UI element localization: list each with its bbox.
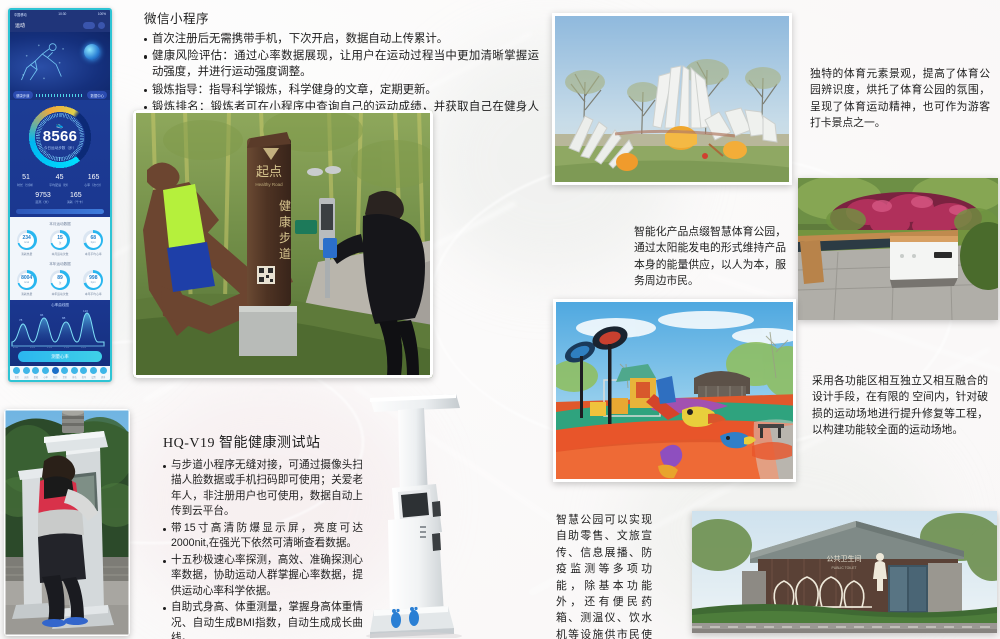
stat-value: 9753 — [35, 192, 51, 199]
playground-photo-art — [556, 302, 796, 482]
svg-text:康: 康 — [279, 214, 291, 229]
ring-stat: 998bpm 本年平均心率 — [83, 270, 103, 296]
stat-label: 距离（米） — [35, 200, 51, 204]
stat-label: 心率（次/分） — [84, 183, 103, 187]
stat-value: 51 — [17, 174, 35, 181]
svg-text:16:0: 16:0 — [81, 346, 87, 348]
tabbar-item[interactable]: 我的 — [52, 367, 59, 379]
tabbar-item[interactable]: 更多 — [100, 367, 107, 379]
ring-label: 本年平均心率 — [85, 292, 102, 296]
hq-v19-section: HQ-V19 智能健康测试站 与步道小程序无缝对接，可通过摄像头扫描人脸数据或手… — [163, 432, 363, 639]
person-kiosk-photo-art — [4, 409, 130, 636]
info-icon[interactable] — [61, 367, 68, 374]
svg-text:88: 88 — [62, 316, 66, 320]
ring-label: 消耗热量 — [21, 292, 32, 296]
year-ring-group: 8004kcal 消耗热量 89次 本年运动次数 998bpm 本年平均心率 — [10, 270, 110, 296]
svg-text:10:0: 10:0 — [30, 346, 36, 348]
phone-tabbar: 首页 运动 数据 心率 我的 资讯 排名 指导 设置 更多 — [10, 366, 110, 380]
photo-kiosk-product — [352, 392, 480, 638]
caption-smart-park: 智慧公园可以实现自助零售、文旅宣传、信息展播、防疫监测等多项功能，除基本功能外，… — [556, 512, 652, 639]
run-icon[interactable] — [23, 367, 30, 374]
section-title-month: 本月运动数据 — [10, 220, 110, 230]
phone-mockup: 中国移动 10:30 100% 运动 — [8, 8, 112, 382]
tab-divider-ticks — [36, 94, 85, 97]
more-icon[interactable] — [100, 367, 107, 374]
tabbar-item[interactable]: 排名 — [71, 367, 78, 379]
wechat-title: 微信小程序 — [144, 8, 539, 27]
ring-unit: 次 — [59, 241, 62, 245]
bench-photo-art — [798, 178, 998, 320]
target-icon[interactable] — [98, 22, 105, 29]
restroom-photo-art: 公共卫生间 PUBLIC TOILET — [692, 511, 997, 633]
hq-bullet-list: 与步道小程序无缝对接，可通过摄像头扫描人脸数据或手机扫码即可使用；关爱老年人，非… — [163, 458, 363, 639]
photo-healthy-trail: 起点 Healthy Road 健康步道 — [133, 110, 433, 378]
phone-tab-strip: 健康步道 数据中心 — [10, 90, 110, 100]
trail-photo-art: 起点 Healthy Road 健康步道 — [133, 110, 433, 378]
stat-label: 平均配速（秒） — [49, 183, 70, 187]
book-icon[interactable] — [80, 367, 87, 374]
list-item: 十五秒极速心率探测，高效、准确探测心率数据，协助运动人群掌握心率数据，提供运动心… — [163, 553, 363, 599]
stats-row-secondary: 9753 距离（米） 165 消耗（千卡） — [10, 192, 110, 205]
svg-text:健: 健 — [279, 199, 291, 213]
chart-title: 心率曲线图 — [10, 303, 110, 310]
ring-unit: kcal — [24, 241, 29, 244]
tabbar-item[interactable]: 首页 — [13, 367, 20, 379]
caption-solar-products: 智能化产品点缀智慧体育公园，通过太阳能发电的形式维持产品本身的能量供应，以人为本… — [634, 224, 786, 290]
ring-unit: bpm — [91, 281, 96, 284]
status-time: 10:30 — [58, 12, 66, 16]
hq-title: HQ-V19 智能健康测试站 — [163, 432, 363, 452]
caption-zoning: 采用各功能区相互独立又相互融合的设计手段，在有限的 空间内，针对破损的运动场地进… — [812, 373, 988, 439]
menu-icon[interactable] — [83, 22, 95, 29]
ring-stat: 8004kcal 消耗热量 — [17, 270, 37, 296]
section-title-year: 本年运动数据 — [10, 256, 110, 270]
svg-text:12:0: 12:0 — [47, 346, 53, 348]
tabbar-item[interactable]: 运动 — [23, 367, 30, 379]
heart-rate-chart-panel: 心率曲线图 7896 88120 8:0010:012:0 — [10, 300, 110, 366]
stat-value: 45 — [49, 174, 70, 181]
tabbar-item[interactable]: 数据 — [32, 367, 39, 379]
ring-stat: 89次 本年运动次数 — [50, 270, 70, 296]
weekly-goal-progress — [16, 209, 104, 214]
tabbar-item[interactable]: 指导 — [80, 367, 87, 379]
stat-item: 165 心率（次/分） — [84, 174, 103, 187]
tabbar-item[interactable]: 设置 — [90, 367, 97, 379]
ring-unit: kcal — [24, 281, 29, 284]
svg-text:14:0: 14:0 — [64, 346, 70, 348]
ring-unit: bpm — [91, 241, 96, 244]
stat-item: 9753 距离（米） — [35, 192, 51, 205]
svg-text:公共卫生间: 公共卫生间 — [827, 554, 862, 563]
phone-stats-white-panel: 本月运动数据 234kcal 消耗热量 15次 本月运动次数 68bpm 本月平… — [10, 217, 110, 300]
phone-navbar: 运动 — [10, 18, 110, 32]
ring-stat: 15次 本月运动次数 — [50, 230, 70, 256]
stat-item: 45 平均配速（秒） — [49, 174, 70, 187]
heart-rate-chart: 7896 88120 8:0010:012:0 14:016:0 — [10, 310, 106, 348]
ring-label: 本月运动次数 — [52, 252, 69, 256]
svg-text:8:00: 8:00 — [13, 346, 19, 348]
user-icon[interactable] — [52, 367, 59, 374]
home-icon[interactable] — [13, 367, 20, 374]
rank-icon[interactable] — [71, 367, 78, 374]
list-item: 锻炼指导：指导科学锻炼，科学健身的文章，定期更新。 — [144, 82, 539, 98]
list-item: 自助式身高、体重测量，掌握身高体重情况、自动生成BMI指数，自动生成成长曲线。 — [163, 600, 363, 639]
svg-text:120: 120 — [83, 310, 88, 313]
photo-smart-restroom: 公共卫生间 PUBLIC TOILET — [692, 511, 997, 633]
phone-status-bar: 中国移动 10:30 100% — [10, 10, 110, 18]
nav-actions[interactable] — [83, 22, 105, 29]
step-label: 今日运动步数（步） — [44, 146, 76, 151]
heart-icon[interactable] — [42, 367, 49, 374]
step-count: 8566 — [43, 129, 78, 146]
svg-text:96: 96 — [40, 313, 44, 317]
svg-text:PUBLIC TOILET: PUBLIC TOILET — [832, 566, 857, 570]
tab-trail[interactable]: 健康步道 — [13, 91, 33, 99]
kiosk-product-art — [352, 392, 480, 638]
ring-label: 本年运动次数 — [52, 292, 69, 296]
svg-text:道: 道 — [279, 247, 291, 261]
tabbar-item[interactable]: 心率 — [42, 367, 49, 379]
stats-row-primary: 51 时长（分钟） 45 平均配速（秒） 165 心率（次/分） — [10, 174, 110, 187]
nav-title: 运动 — [15, 22, 25, 29]
hero-banner — [10, 32, 110, 90]
phone-main-panel: 👟 8566 今日运动步数（步） 51 时长（分钟） 45 平均配速（秒） 16… — [10, 100, 110, 217]
shuttlecock-photo-art — [555, 16, 792, 185]
globe-icon — [84, 44, 100, 60]
setting-icon[interactable] — [90, 367, 97, 374]
svg-text:起点: 起点 — [256, 165, 282, 180]
month-ring-group: 234kcal 消耗热量 15次 本月运动次数 68bpm 本月平均心率 — [10, 230, 110, 256]
status-battery: 100% — [98, 12, 106, 16]
stat-value: 165 — [84, 174, 103, 181]
step-gauge: 👟 8566 今日运动步数（步） — [27, 104, 93, 170]
list-item: 健康风险评估：通过心率数据展现，让用户在运动过程当中更加清晰掌握运动强度，并进行… — [144, 48, 539, 80]
caption-sculpture: 独特的体育元素景观，提高了体育公园辨识度，烘托了体育公园的氛围，呈现了体育运动精… — [810, 66, 990, 132]
photo-solar-bench — [798, 178, 998, 320]
runner-illustration — [18, 38, 70, 84]
ring-label: 本月平均心率 — [85, 252, 102, 256]
measure-heart-rate-button[interactable]: 测量心率 — [18, 351, 102, 362]
list-item: 带15寸高清防爆显示屏，亮度可达2000nit,在强光下依然可清晰查看数据。 — [163, 521, 363, 552]
stat-item: 165 消耗（千卡） — [67, 192, 85, 205]
status-carrier: 中国移动 — [14, 12, 27, 17]
photo-playground — [553, 299, 796, 482]
ring-stat: 234kcal 消耗热量 — [17, 230, 37, 256]
svg-text:Healthy Road: Healthy Road — [255, 182, 283, 187]
svg-text:步: 步 — [279, 231, 291, 245]
stat-label: 消耗（千卡） — [67, 200, 85, 204]
svg-text:78: 78 — [19, 318, 23, 322]
stat-label: 时长（分钟） — [17, 183, 35, 187]
ring-stat: 68bpm 本月平均心率 — [83, 230, 103, 256]
chart-icon[interactable] — [32, 367, 39, 374]
stat-value: 165 — [67, 192, 85, 199]
poster-page: 中国移动 10:30 100% 运动 — [0, 0, 1000, 639]
ring-unit: 次 — [59, 281, 62, 285]
list-item: 与步道小程序无缝对接，可通过摄像头扫描人脸数据或手机扫码即可使用；关爱老年人，非… — [163, 458, 363, 520]
stat-item: 51 时长（分钟） — [17, 174, 35, 187]
tabbar-item[interactable]: 资讯 — [61, 367, 68, 379]
photo-person-using-kiosk — [4, 409, 130, 636]
photo-shuttlecock-sculpture — [552, 13, 792, 185]
list-item: 首次注册后无需携带手机，下次开启，数据自动上传累计。 — [144, 31, 539, 47]
tab-data-center[interactable]: 数据中心 — [87, 91, 107, 99]
ring-label: 消耗热量 — [21, 252, 32, 256]
